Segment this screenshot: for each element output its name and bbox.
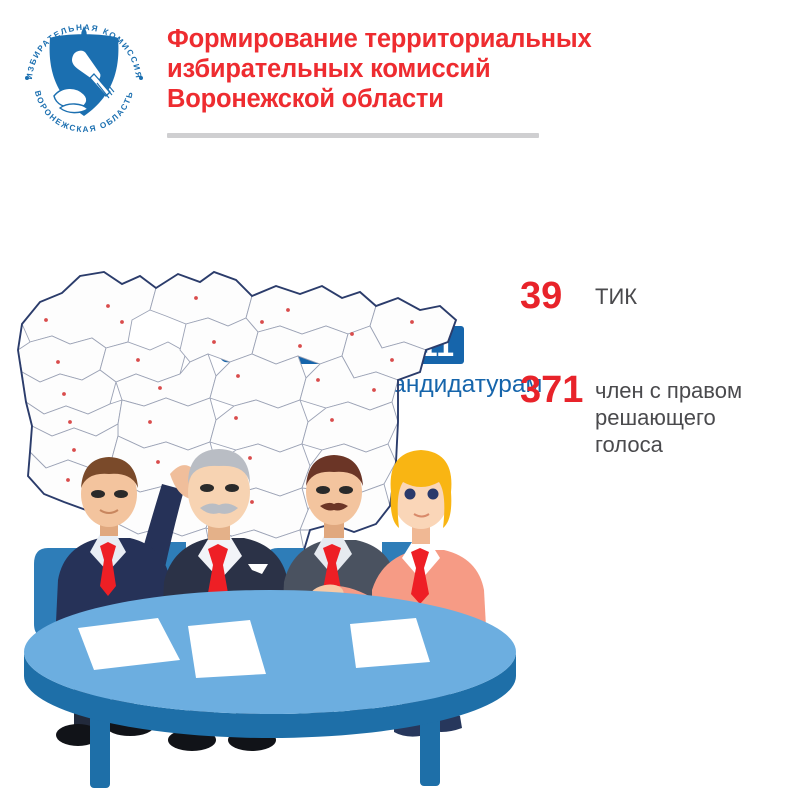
- title-line-2: избирательных комиссий: [167, 54, 727, 84]
- statistics-block: 39 ТИК 371 член с правом решающего голос…: [520, 275, 800, 510]
- stat-label-tik: ТИК: [595, 275, 637, 310]
- paper-3: [350, 618, 430, 668]
- title-line-1: Формирование территориальных: [167, 24, 727, 54]
- title-divider: [167, 133, 539, 138]
- stat-row-members: 371 член с правом решающего голоса: [520, 369, 800, 458]
- infographic-poster: ИЗБИРАТЕЛЬНАЯ КОМИССИЯ ВОРОНЕЖСКАЯ ОБЛАС…: [0, 0, 800, 800]
- election-commission-emblem-logo: ИЗБИРАТЕЛЬНАЯ КОМИССИЯ ВОРОНЕЖСКАЯ ОБЛАС…: [14, 12, 154, 140]
- stat-row-tik: 39 ТИК: [520, 275, 800, 317]
- commission-meeting-illustration: [20, 430, 520, 790]
- title-line-3: Воронежской области: [167, 84, 727, 114]
- page-title: Формирование территориальных избирательн…: [167, 24, 727, 114]
- stat-number-members: 371: [520, 369, 595, 411]
- header: ИЗБИРАТЕЛЬНАЯ КОМИССИЯ ВОРОНЕЖСКАЯ ОБЛАС…: [0, 0, 800, 150]
- stat-number-tik: 39: [520, 275, 595, 317]
- date-strip: 06.10-06.11 сбор предложений по кандидат…: [0, 160, 800, 250]
- meeting-table: [24, 590, 516, 788]
- stat-label-members: член с правом решающего голоса: [595, 369, 780, 458]
